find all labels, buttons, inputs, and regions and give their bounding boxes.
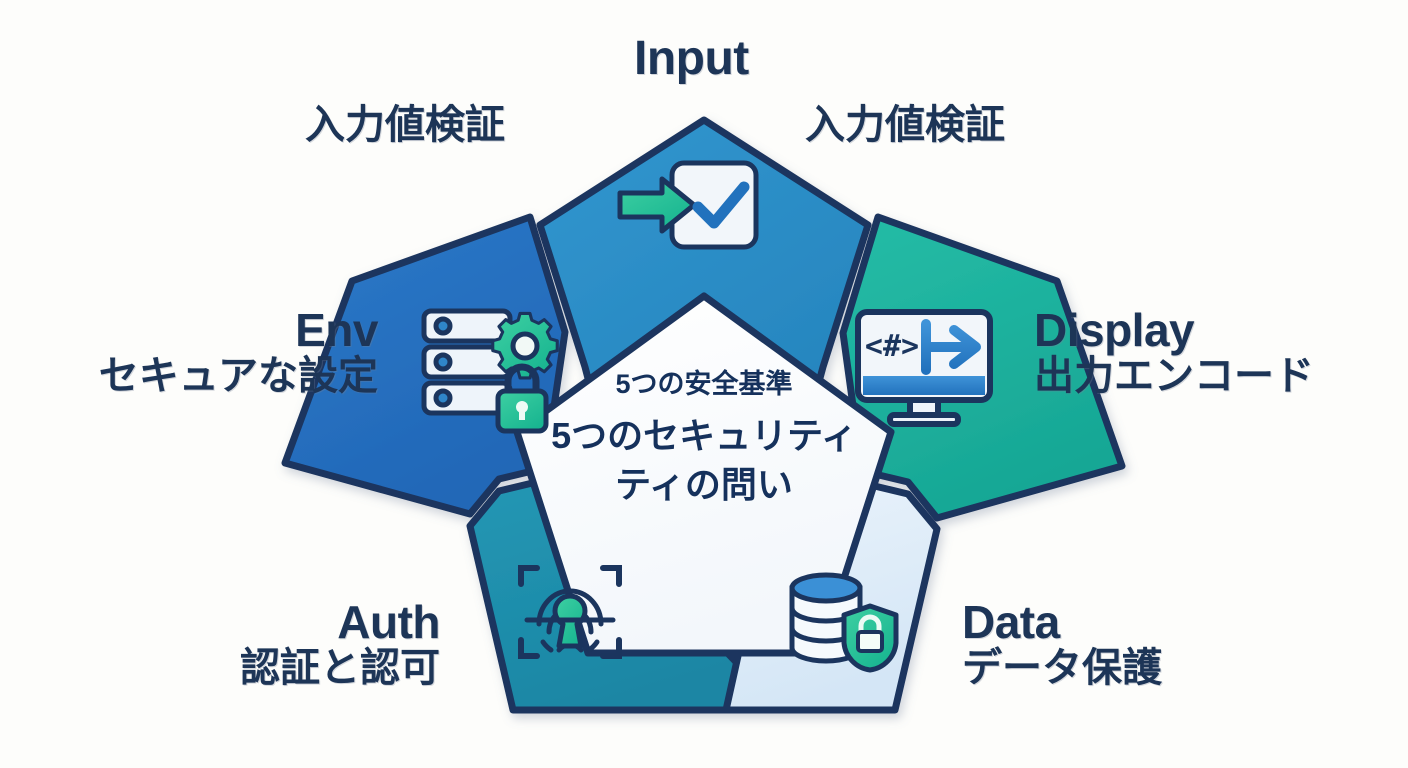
label-input-ja-left: 入力値検証 bbox=[305, 104, 505, 146]
svg-text:<#>: <#> bbox=[865, 329, 919, 364]
label-env-ja: セキュアな設定 bbox=[58, 355, 378, 397]
center-title-line2: ティの問い bbox=[615, 464, 793, 505]
label-display: Display 出力エンコード bbox=[1034, 306, 1314, 397]
label-data-ja: データ保護 bbox=[962, 647, 1162, 689]
center-subtitle: 5つの安全基準 bbox=[615, 368, 792, 399]
diagram-canvas: 5つの安全基準 5つのセキュリティ ティの問い bbox=[0, 0, 1408, 768]
label-data: Data データ保護 bbox=[962, 598, 1162, 689]
label-display-en: Display bbox=[1034, 306, 1314, 355]
label-data-en: Data bbox=[962, 598, 1162, 647]
label-env-en: Env bbox=[58, 306, 378, 355]
label-input-ja-right: 入力値検証 bbox=[805, 104, 1005, 146]
label-auth: Auth 認証と認可 bbox=[200, 598, 440, 689]
label-input-ja-right-text: 入力値検証 bbox=[805, 104, 1005, 146]
label-input: Input bbox=[634, 34, 749, 85]
label-input-en: Input bbox=[634, 34, 749, 85]
label-auth-en: Auth bbox=[200, 598, 440, 647]
label-display-ja: 出力エンコード bbox=[1034, 355, 1314, 397]
center-title-line1: 5つのセキュリティ bbox=[551, 415, 857, 456]
label-env: Env セキュアな設定 bbox=[58, 306, 378, 397]
label-auth-ja: 認証と認可 bbox=[200, 647, 440, 689]
label-input-ja-left-text: 入力値検証 bbox=[305, 104, 505, 146]
